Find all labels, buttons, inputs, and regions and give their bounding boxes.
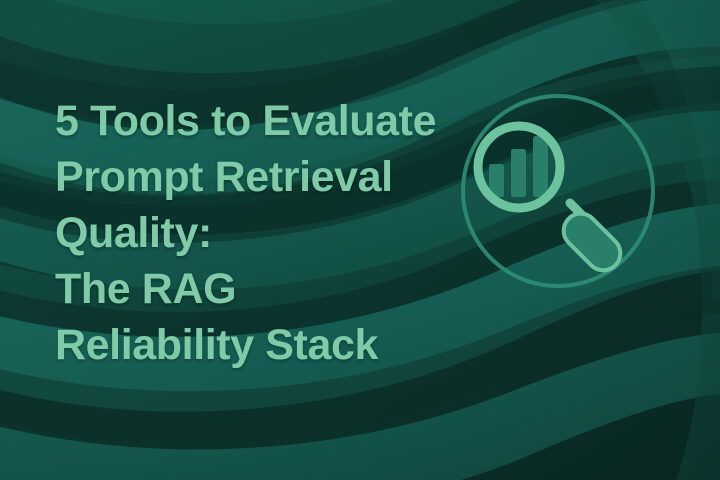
- page-title: 5 Tools to Evaluate Prompt Retrieval Qua…: [55, 93, 485, 373]
- headline-line-4: The RAG: [55, 261, 485, 317]
- magnifying-glass-bar-chart-icon: [458, 91, 658, 291]
- headline-line-2: Prompt Retrieval: [55, 149, 485, 205]
- bar-chart-group: [489, 136, 548, 197]
- magnifier-handle: [557, 203, 628, 277]
- bar-2: [511, 149, 526, 197]
- headline-line-3: Quality:: [55, 205, 485, 261]
- headline-line-5: Reliability Stack: [55, 317, 485, 373]
- bar-3: [533, 136, 548, 197]
- headline-line-1: 5 Tools to Evaluate: [55, 93, 485, 149]
- hero-banner: 5 Tools to Evaluate Prompt Retrieval Qua…: [0, 0, 720, 480]
